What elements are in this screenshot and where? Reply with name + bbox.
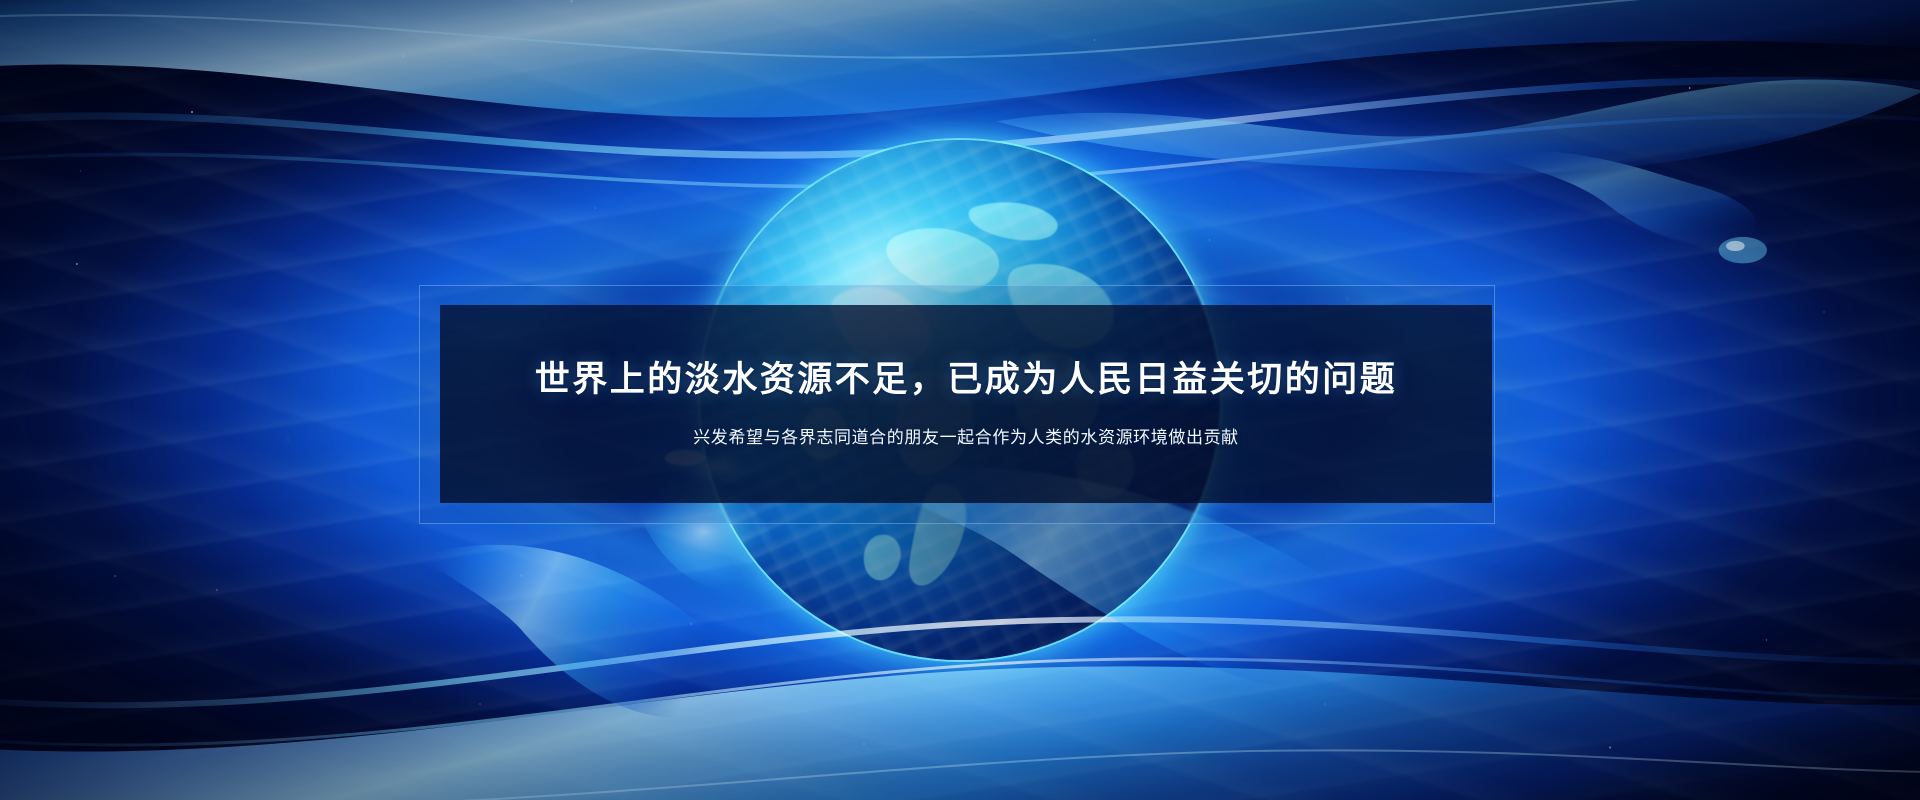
hero-banner: 世界上的淡水资源不足，已成为人民日益关切的问题 兴发希望与各界志同道合的朋友一起… [0,0,1920,800]
text-panel: 世界上的淡水资源不足，已成为人民日益关切的问题 兴发希望与各界志同道合的朋友一起… [440,305,1492,503]
banner-headline: 世界上的淡水资源不足，已成为人民日益关切的问题 [535,359,1398,401]
banner-subheadline: 兴发希望与各界志同道合的朋友一起合作为人类的水资源环境做出贡献 [693,427,1239,449]
